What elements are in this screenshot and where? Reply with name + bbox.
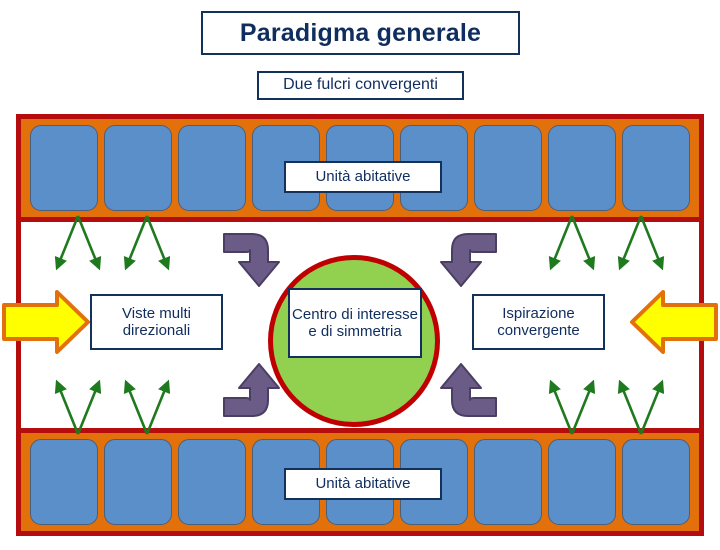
housing-unit [104,439,172,525]
diagram-stage: Paradigma generale Due fulcri convergent… [0,0,720,550]
housing-unit [104,125,172,211]
housing-unit [178,125,246,211]
housing-unit [474,125,542,211]
housing-unit [30,125,98,211]
right-concept-box: Ispirazione convergente [472,294,605,350]
housing-unit [622,439,690,525]
page-subtitle: Due fulcri convergenti [257,71,464,100]
housing-unit [622,125,690,211]
housing-band-bottom-label: Unità abitative [284,468,442,500]
housing-unit [30,439,98,525]
housing-band-top-label: Unità abitative [284,161,442,193]
housing-unit [548,125,616,211]
housing-unit [178,439,246,525]
housing-unit [548,439,616,525]
page-title: Paradigma generale [201,11,520,55]
left-concept-box: Viste multi direzionali [90,294,223,350]
center-circle-label: Centro di interesse e di simmetria [288,288,422,358]
housing-unit [474,439,542,525]
